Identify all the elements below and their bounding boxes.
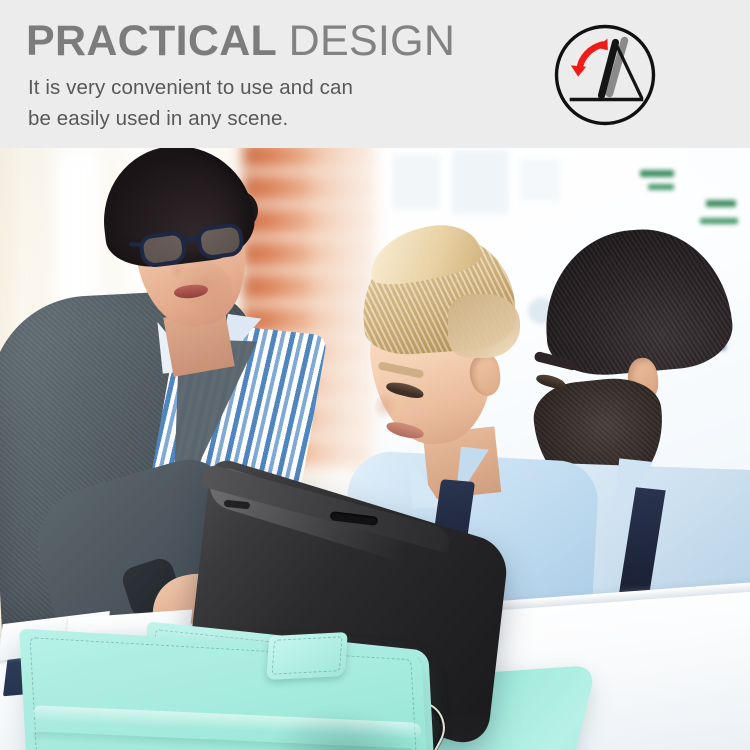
page-subtitle: It is very convenient to use and can be …: [28, 72, 506, 134]
headline-light: DESIGN: [289, 17, 456, 65]
headline-strong: PRACTICAL: [26, 17, 276, 65]
stand-brace: [617, 45, 642, 98]
subtitle-line-1: It is very convenient to use and can: [28, 72, 506, 103]
header-band: PRACTICAL DESIGN It is very convenient t…: [0, 0, 750, 148]
mint-wallet-phone-case: [0, 148, 750, 750]
product-infographic: PRACTICAL DESIGN It is very convenient t…: [0, 0, 750, 750]
subtitle-line-2: be easily used in any scene.: [28, 103, 506, 134]
lifestyle-photo: [0, 148, 750, 750]
case-magnetic-tab: [266, 632, 348, 680]
page-title: PRACTICAL DESIGN: [26, 16, 506, 66]
kickstand-rotation-icon: [553, 23, 657, 127]
header-text-block: PRACTICAL DESIGN It is very convenient t…: [26, 16, 506, 134]
